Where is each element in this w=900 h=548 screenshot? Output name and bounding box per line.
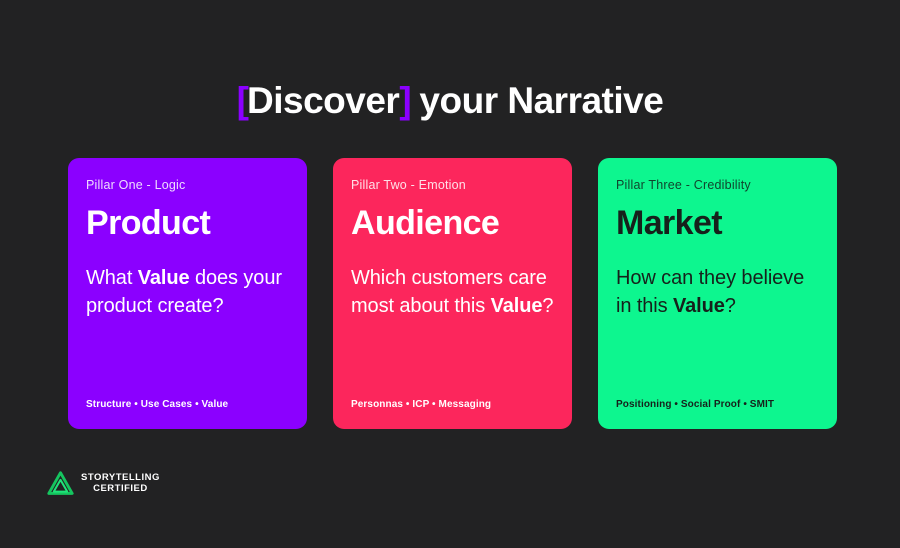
page-title: [Discover] your Narrative	[0, 80, 900, 122]
card-tags: Positioning • Social Proof • SMIT	[616, 399, 774, 410]
triangle-logo-icon	[47, 470, 74, 497]
title-bracket-close: ]	[399, 80, 409, 121]
card-tags: Personnas • ICP • Messaging	[351, 399, 491, 410]
card-body: How can they believe in this Value?	[616, 264, 819, 321]
card-body: Which customers care most about this Val…	[351, 264, 554, 321]
title-bracket-open: [	[237, 80, 247, 121]
card-body-emphasis: Value	[138, 267, 190, 289]
card-body: What Value does your product create?	[86, 264, 289, 321]
card-tags: Structure • Use Cases • Value	[86, 399, 228, 410]
slide-canvas: [Discover] your Narrative Pillar One - L…	[0, 0, 900, 548]
pillar-card-market[interactable]: Pillar Three - Credibility Market How ca…	[598, 158, 837, 429]
card-eyebrow: Pillar One - Logic	[86, 178, 289, 192]
pillar-card-row: Pillar One - Logic Product What Value do…	[68, 158, 838, 429]
brand-logo-line2: CERTIFIED	[81, 484, 160, 495]
brand-logo: STORYTELLING CERTIFIED	[47, 470, 160, 497]
card-heading: Product	[86, 206, 289, 242]
card-eyebrow: Pillar Three - Credibility	[616, 178, 819, 192]
pillar-card-product[interactable]: Pillar One - Logic Product What Value do…	[68, 158, 307, 429]
title-rest: your Narrative	[410, 80, 664, 121]
card-body-post: ?	[725, 295, 736, 317]
title-highlight-word: Discover	[247, 80, 399, 121]
card-body-emphasis: Value	[491, 295, 543, 317]
card-body-pre: What	[86, 267, 138, 289]
brand-logo-line1: STORYTELLING	[81, 473, 160, 484]
card-body-emphasis: Value	[673, 295, 725, 317]
brand-logo-text: STORYTELLING CERTIFIED	[81, 473, 160, 494]
card-eyebrow: Pillar Two - Emotion	[351, 178, 554, 192]
pillar-card-audience[interactable]: Pillar Two - Emotion Audience Which cust…	[333, 158, 572, 429]
card-heading: Market	[616, 206, 819, 242]
card-heading: Audience	[351, 206, 554, 242]
card-body-post: ?	[542, 295, 553, 317]
